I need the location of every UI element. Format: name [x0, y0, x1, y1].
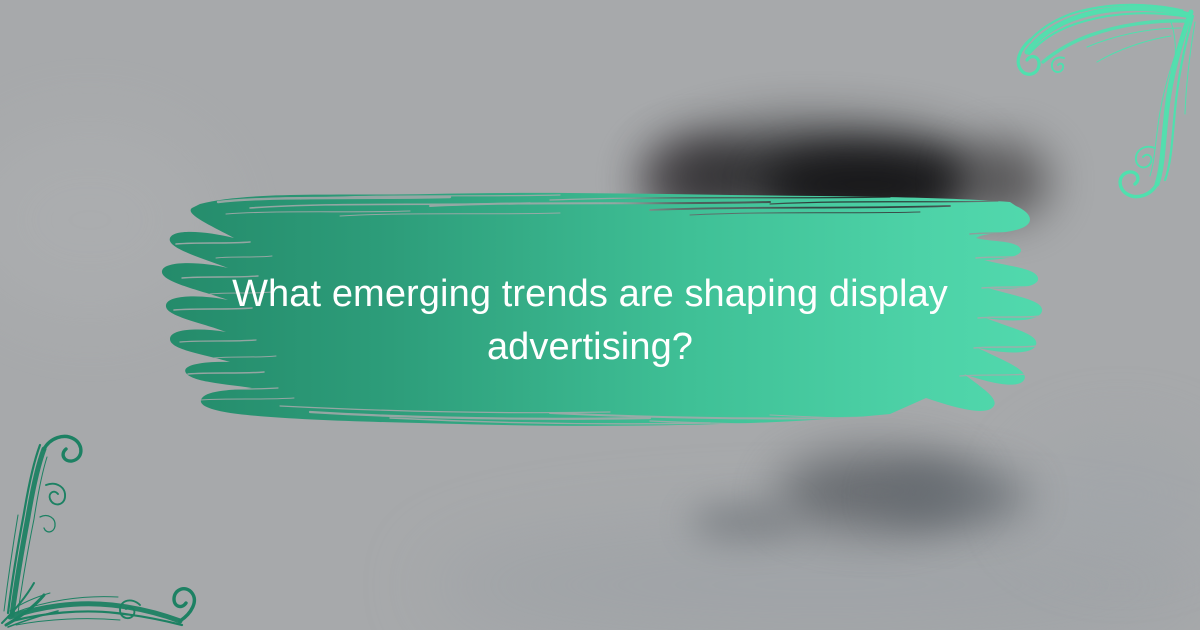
blurred-gray-mass-bottom-2 — [880, 468, 1030, 524]
flourish-top-right-icon — [985, 0, 1200, 205]
poster-canvas: What emerging trends are shaping display… — [0, 0, 1200, 630]
background-haze-right — [1020, 430, 1200, 560]
page-title: What emerging trends are shaping display… — [170, 268, 1010, 374]
background-haze-lower — [430, 520, 1200, 630]
blurred-gray-mass-bottom — [775, 452, 975, 530]
flourish-bottom-left-icon — [0, 425, 215, 630]
blurred-gray-speck-bottom — [690, 505, 800, 539]
